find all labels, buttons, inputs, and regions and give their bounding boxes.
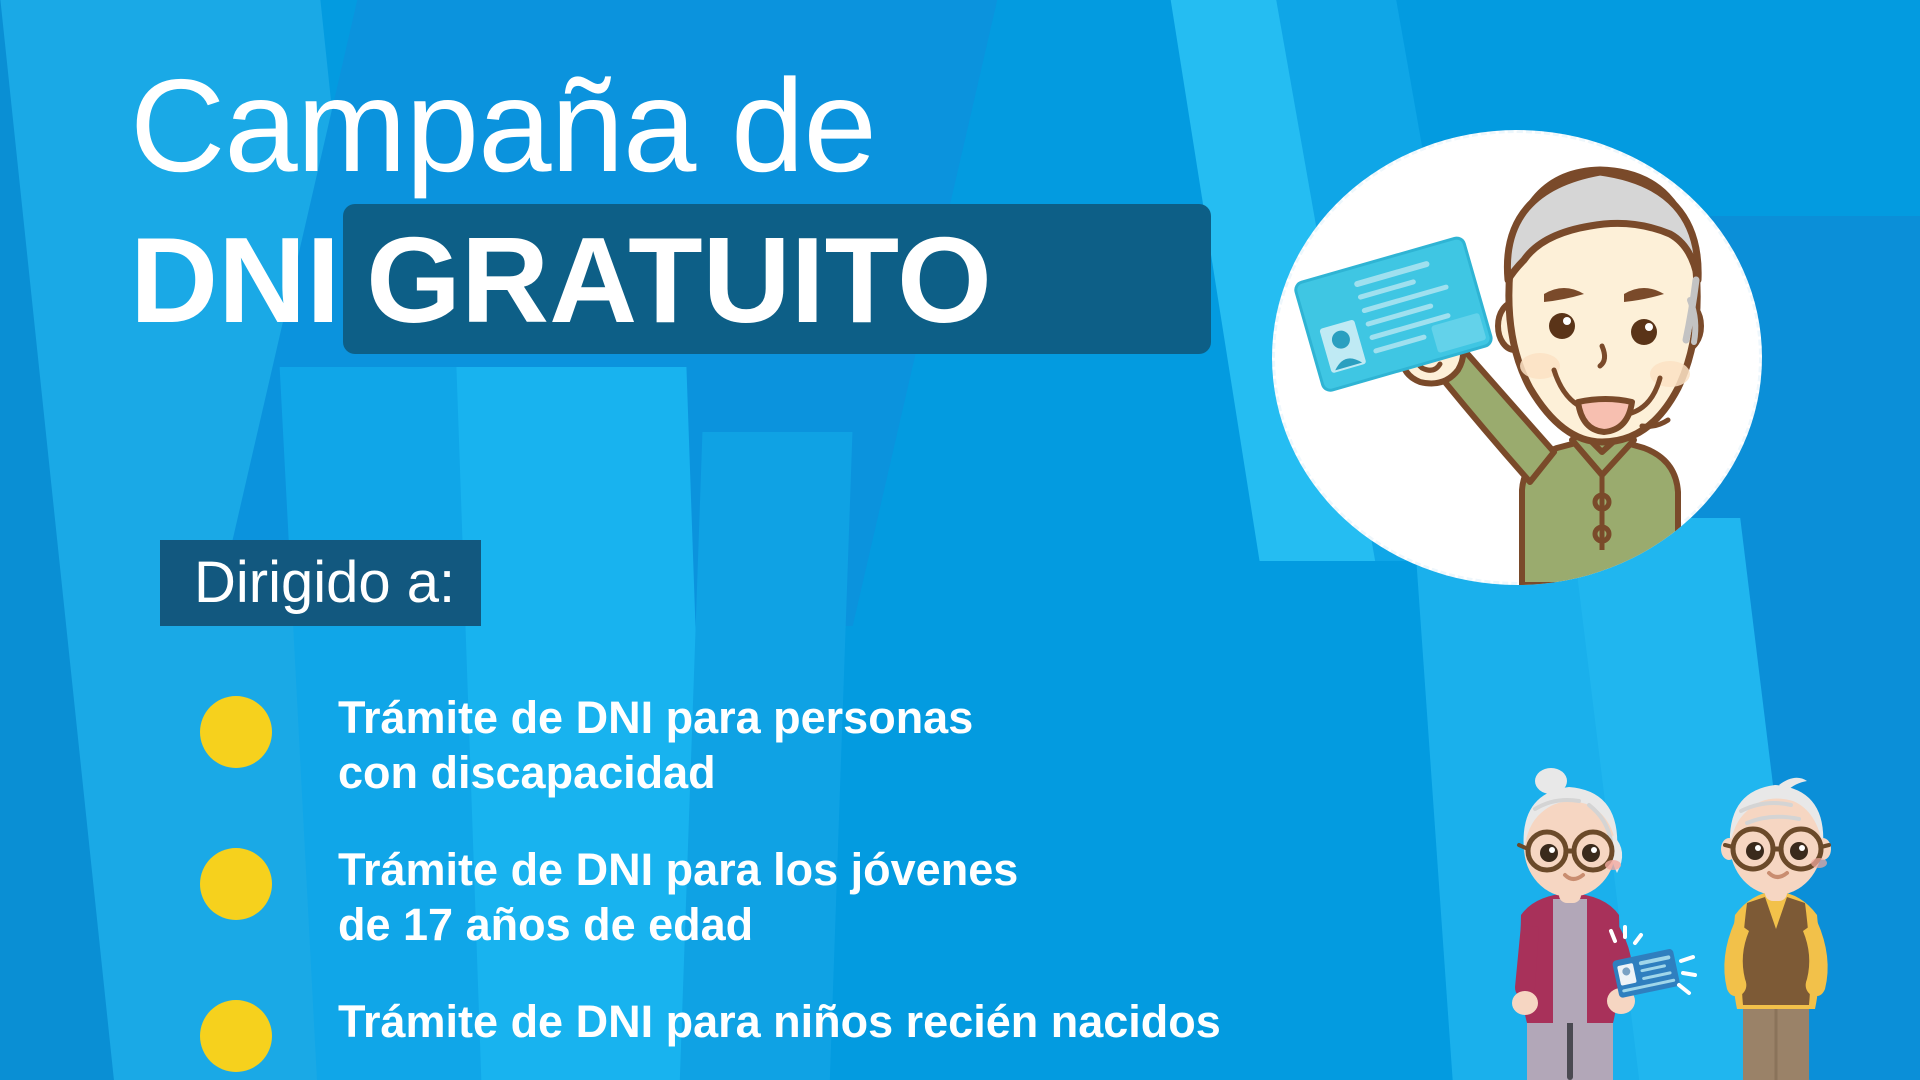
bullet-dot-icon [200, 1000, 272, 1072]
list-item: Trámite de DNI para personas con discapa… [200, 690, 1350, 800]
main-illustration-circle [1272, 130, 1762, 585]
elderly-man-holding-dni-card-illustration [1272, 130, 1762, 585]
circle-clip [1272, 130, 1762, 585]
elderly-couple-illustration [1505, 765, 1920, 1080]
elderly-woman-figure [1512, 768, 1695, 1080]
poster-canvas: Campaña de DNIGRATUITO Dirigido a: Trámi… [0, 0, 1920, 1080]
audience-bullet-list: Trámite de DNI para personas con discapa… [200, 690, 1350, 1080]
list-item: Trámite de DNI para los jóvenes de 17 añ… [200, 842, 1350, 952]
headline-gratuito-word: GRATUITO [366, 212, 992, 348]
elderly-man-figure [1721, 778, 1831, 1080]
headline-block: Campaña de DNIGRATUITO [130, 60, 1230, 354]
bullet-dot-icon [200, 848, 272, 920]
couple-svg [1505, 765, 1920, 1080]
bullet-text: Trámite de DNI para personas con discapa… [338, 690, 973, 800]
headline-line-1: Campaña de [130, 60, 1230, 192]
headline-line-2-text: DNIGRATUITO [130, 210, 992, 350]
bullet-text: Trámite de DNI para los jóvenes de 17 añ… [338, 842, 1018, 952]
bullet-dot-icon [200, 696, 272, 768]
list-item: Trámite de DNI para niños recién nacidos [200, 994, 1350, 1072]
headline-line-2: DNIGRATUITO [130, 204, 1230, 354]
bullet-text: Trámite de DNI para niños recién nacidos [338, 994, 1221, 1049]
section-label-dirigido-a: Dirigido a: [160, 540, 481, 626]
headline-dni-word: DNI [130, 212, 340, 348]
